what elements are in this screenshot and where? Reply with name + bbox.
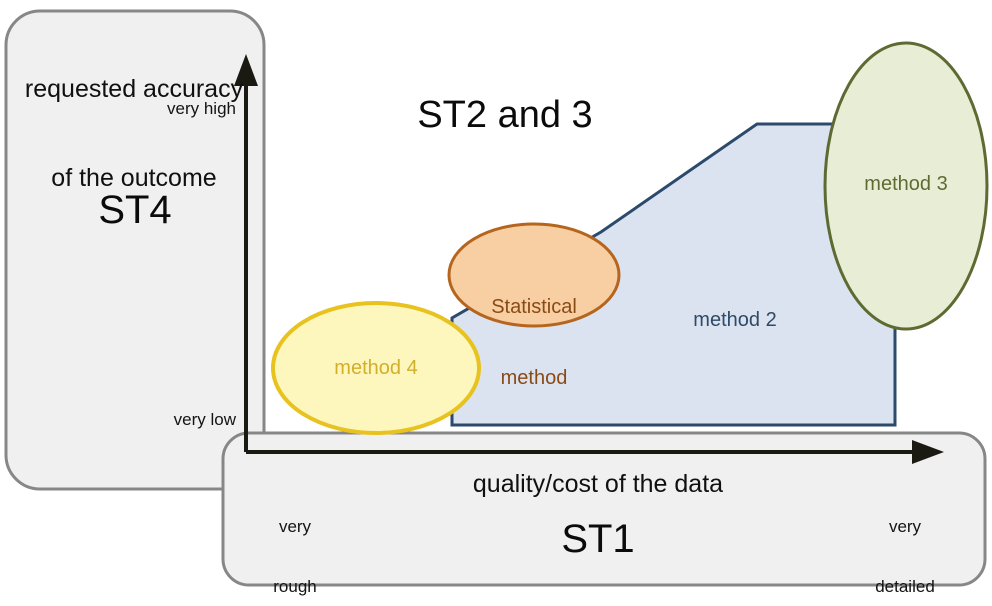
x-axis-tick-low-line2: rough bbox=[245, 577, 345, 597]
st4-label: ST4 bbox=[25, 187, 245, 234]
statistical-method-label-line1: Statistical bbox=[454, 296, 614, 320]
method-2-label: method 2 bbox=[655, 309, 815, 333]
statistical-method-label-line2: method bbox=[454, 367, 614, 391]
y-axis-tick-low: very low bbox=[118, 410, 236, 430]
x-axis-tick-low: very rough bbox=[245, 477, 345, 606]
x-axis-title: quality/cost of the data bbox=[398, 470, 798, 500]
x-axis-tick-high: very detailed bbox=[855, 477, 955, 606]
diagram-canvas: requested accuracy of the outcome very h… bbox=[0, 0, 992, 606]
x-axis-tick-high-line2: detailed bbox=[855, 577, 955, 597]
statistical-method-label: Statistical method bbox=[454, 249, 614, 438]
method-3-label: method 3 bbox=[826, 173, 986, 197]
method-4-label: method 4 bbox=[296, 357, 456, 381]
x-axis-tick-high-line1: very bbox=[855, 517, 955, 537]
x-axis-tick-low-line1: very bbox=[245, 517, 345, 537]
y-axis-tick-high: very high bbox=[118, 99, 236, 119]
section-title-st2-and-3: ST2 and 3 bbox=[325, 93, 685, 138]
st1-label: ST1 bbox=[418, 516, 778, 563]
